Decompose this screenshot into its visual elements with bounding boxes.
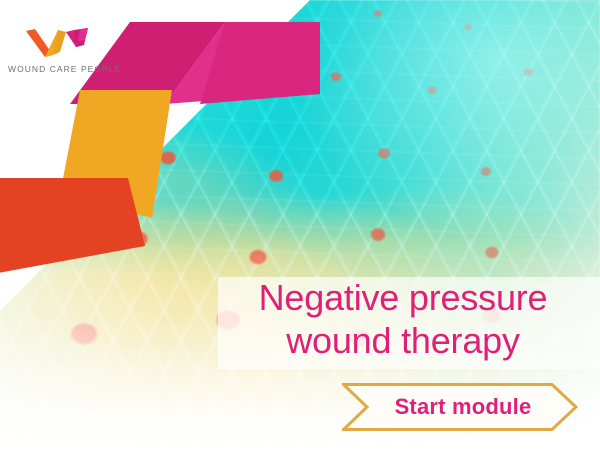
brand-logo: WOUND CARE PEOPLE [8,28,118,74]
brand-name-text: WOUND CARE PEOPLE [8,64,118,74]
wound-care-people-ribbon-logo-icon [26,28,88,58]
start-module-button-label: Start module [395,394,532,420]
page-title-line-1: Negative pressure [218,276,588,319]
module-title-slide: WOUND CARE PEOPLE Negative pressure woun… [0,0,600,451]
page-title: Negative pressure wound therapy [218,276,588,362]
start-module-button[interactable]: Start module [342,383,578,431]
page-title-line-2: wound therapy [218,319,588,362]
